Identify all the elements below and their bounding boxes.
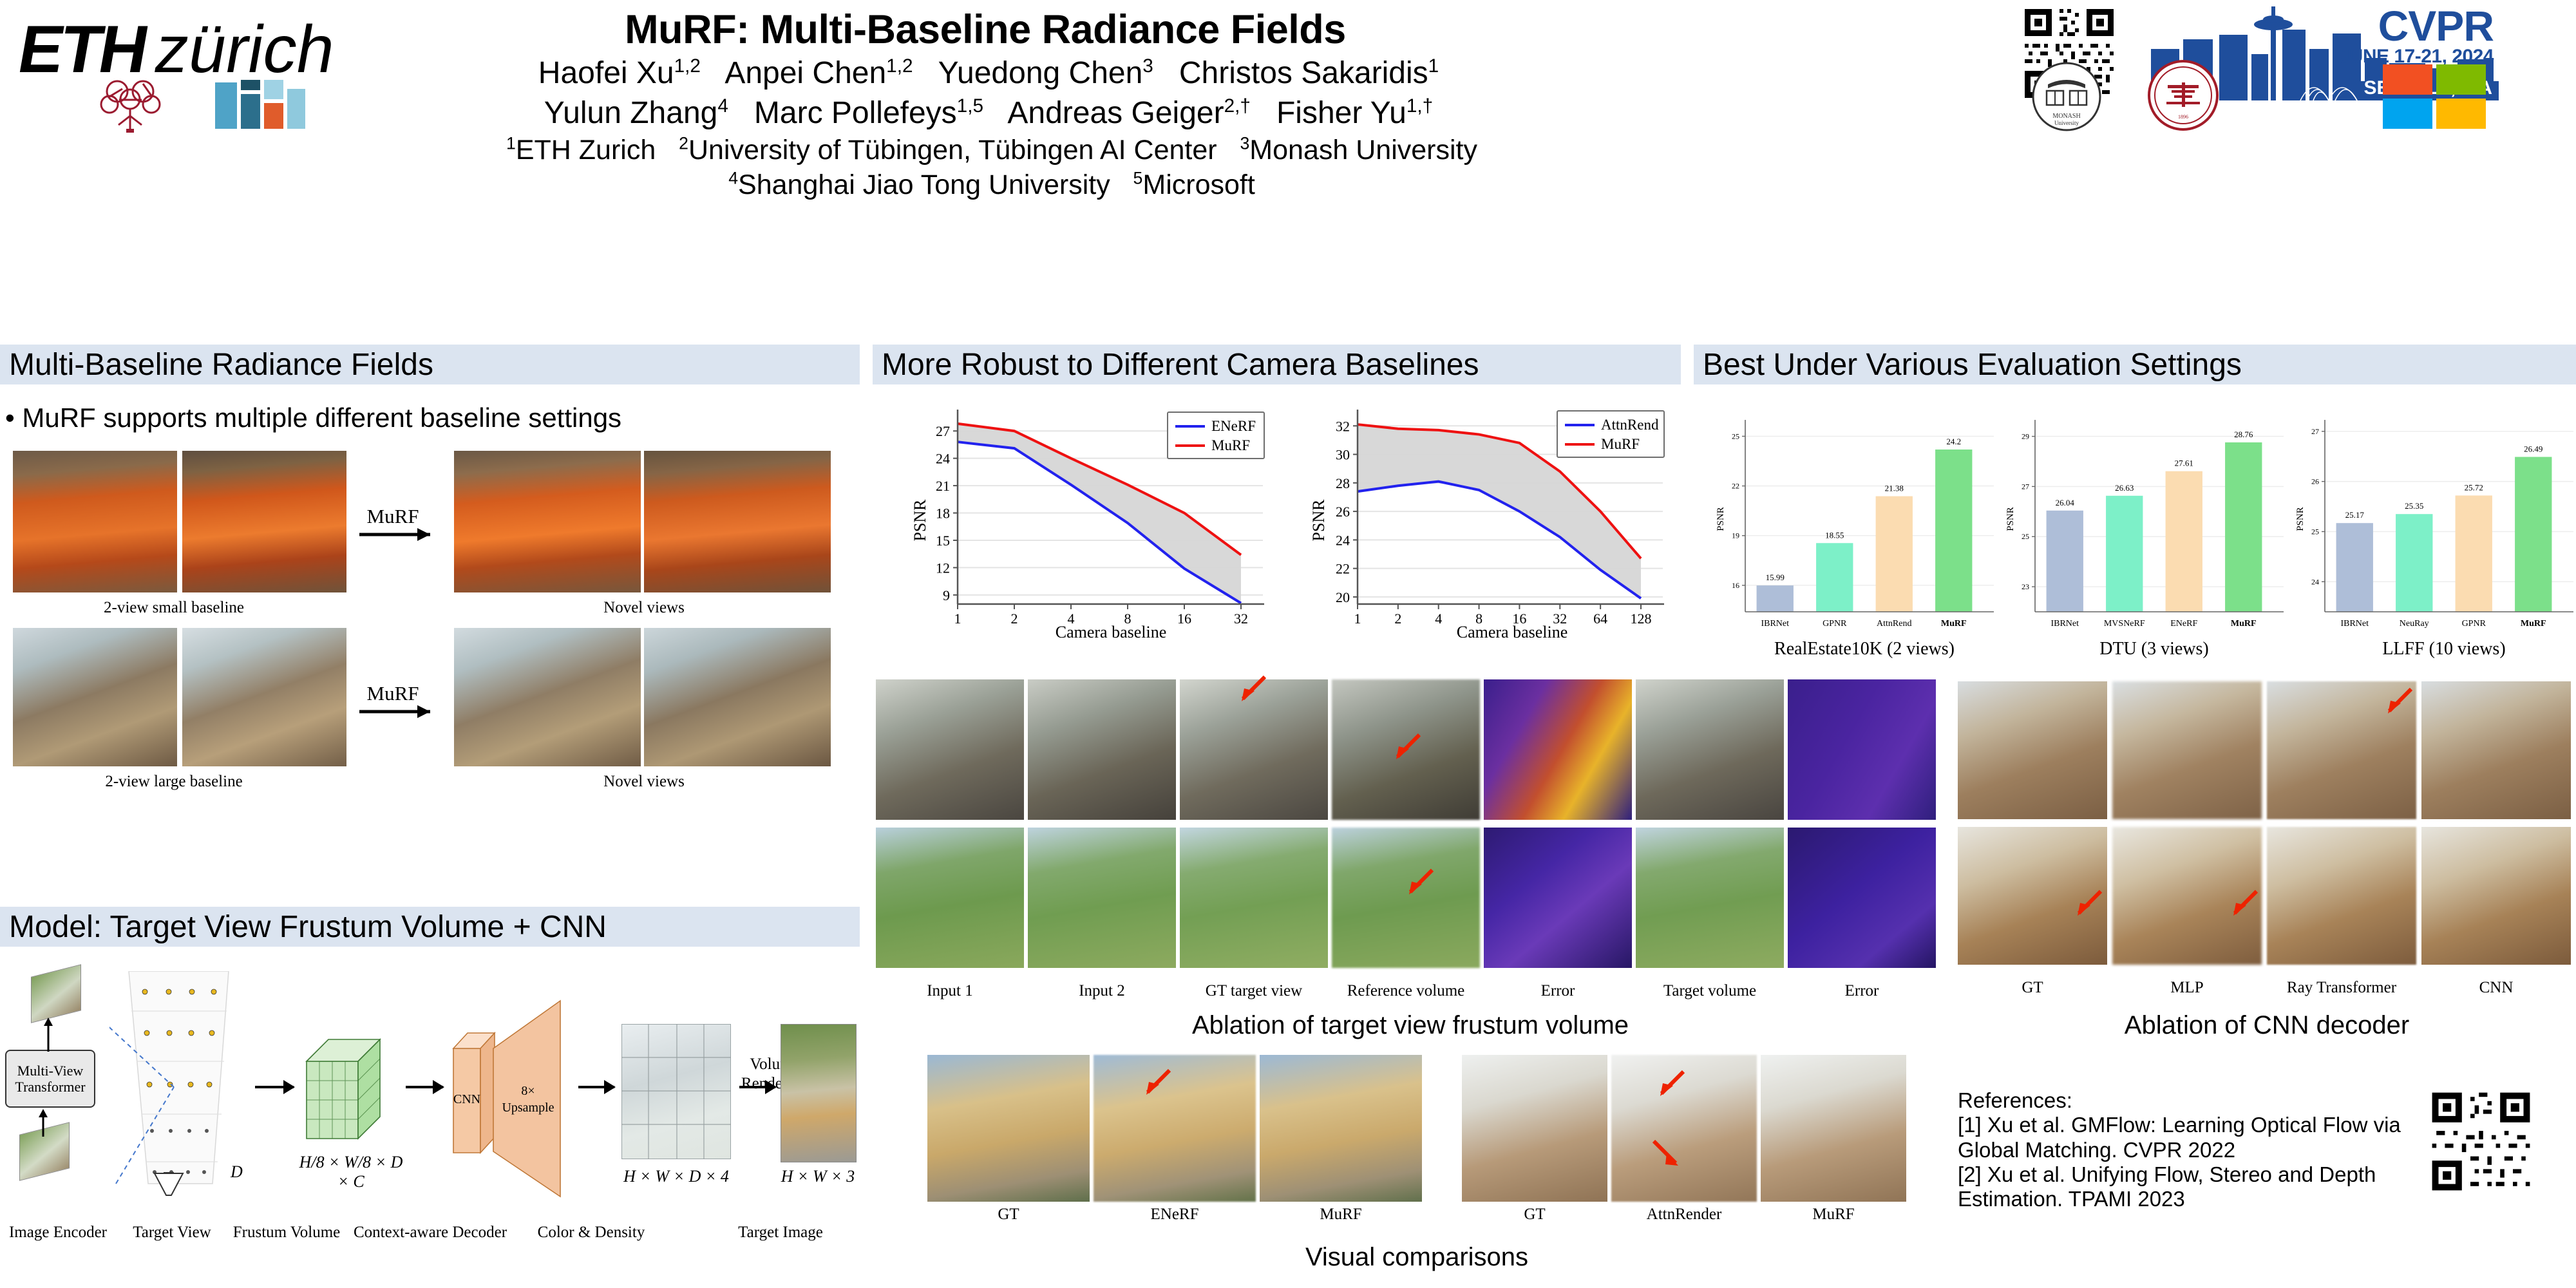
author-entry: Yuedong Chen3 xyxy=(938,56,1153,90)
ms-square-red xyxy=(2383,64,2432,95)
svg-text:64: 64 xyxy=(1593,611,1607,627)
novel-view-large-baseline-1 xyxy=(454,628,641,766)
section-header-robust-baselines: More Robust to Different Camera Baseline… xyxy=(873,345,1681,384)
svg-text:23: 23 xyxy=(2022,582,2029,591)
svg-text:AttnRend: AttnRend xyxy=(1877,619,1911,629)
reference-item: [2] Xu et al. Unifying Flow, Stereo and … xyxy=(1958,1162,2409,1212)
svg-text:MuRF: MuRF xyxy=(2231,619,2257,629)
cvpr-text-block: CVPR JUNE 17-21, 2024 xyxy=(2339,6,2494,68)
diagram-arrow-2 xyxy=(406,1086,443,1088)
svg-text:MVSNeRF: MVSNeRF xyxy=(2104,619,2145,629)
svg-text:25.17: 25.17 xyxy=(2345,510,2365,520)
diagram-frustum-volume-cube xyxy=(303,1036,393,1145)
cnn-ablation-gt-row1 xyxy=(1958,681,2107,819)
model-architecture-diagram: Multi-View Transformer D xyxy=(0,960,860,1211)
diagram-cnn-label: CNN xyxy=(453,1092,480,1106)
svg-text:24: 24 xyxy=(936,451,950,467)
ablation-cell-error-tgt-row2 xyxy=(1788,828,1936,968)
references-block: References: [1] Xu et al. GMFlow: Learni… xyxy=(1958,1088,2409,1211)
line-chart-1-legend-0: ENeRF xyxy=(1211,418,1256,434)
svg-text:26.04: 26.04 xyxy=(2056,498,2075,507)
ablation-frustum-row-1 xyxy=(876,679,1945,821)
annotation-arrow-red-row1-b xyxy=(1391,732,1423,764)
microsoft-logo-icon xyxy=(2383,64,2486,129)
svg-text:32: 32 xyxy=(1234,611,1248,627)
input-image-small-baseline-1 xyxy=(13,451,177,592)
diagram-caption-target-image: Target Image xyxy=(723,1224,838,1242)
svg-text:21: 21 xyxy=(936,478,950,494)
svg-text:24: 24 xyxy=(2311,577,2319,586)
svg-text:DTU (3 views): DTU (3 views) xyxy=(2099,639,2209,659)
ablation-label-input1: Input 1 xyxy=(885,982,1014,1000)
svg-text:22: 22 xyxy=(1336,561,1350,577)
svg-text:Upsample: Upsample xyxy=(502,1101,554,1115)
section-header-model: Model: Target View Frustum Volume + CNN xyxy=(0,907,860,947)
ablation-cell-error-ref-row2 xyxy=(1484,828,1632,968)
ablation-cell-error-ref-row1 xyxy=(1484,679,1632,820)
references-heading: References: xyxy=(1958,1088,2409,1113)
murf-arrow-large-baseline: MuRF xyxy=(353,667,450,737)
caption-ablation-frustum-volume: Ablation of target view frustum volume xyxy=(979,1011,1842,1040)
author-entry: Christos Sakaridis1 xyxy=(1179,56,1439,90)
ablation-cell-input2-row2 xyxy=(1028,828,1176,968)
ablation-label-gt-target-view: GT target view xyxy=(1189,982,1318,1000)
diagram-volume-gridlines xyxy=(621,1024,731,1159)
eth-zurich-logo: ETH zürich xyxy=(19,12,509,76)
svg-text:GPNR: GPNR xyxy=(2462,619,2486,629)
ablation-label-error-2: Error xyxy=(1797,982,1926,1000)
svg-text:26.63: 26.63 xyxy=(2115,483,2134,493)
svg-text:18: 18 xyxy=(936,506,950,522)
cnn-ablation-cnn-row1 xyxy=(2421,681,2571,819)
poster-header: ETH zürich MuRF: Multi-Baseline Radiance… xyxy=(0,0,2576,135)
diagram-arrow-up-1 xyxy=(39,1016,58,1052)
diagram-caption-target-view: Target View xyxy=(124,1224,220,1242)
ablation-label-input2: Input 2 xyxy=(1037,982,1166,1000)
caption-novel-views-2: Novel views xyxy=(515,773,773,791)
svg-text:IBRNet: IBRNet xyxy=(2340,619,2369,629)
svg-text:16: 16 xyxy=(1177,611,1191,627)
viscomp-label-g2-murf: MuRF xyxy=(1770,1206,1897,1224)
cnn-ablation-row-2 xyxy=(1958,827,2576,966)
line-chart-1-xlabel: Camera baseline xyxy=(1056,623,1167,641)
authors-line-2: Yulun Zhang4 Marc Pollefeys1,5 Andreas G… xyxy=(477,95,1501,131)
svg-text:32: 32 xyxy=(1336,418,1350,434)
ms-square-blue xyxy=(2383,99,2432,129)
camera-frustum-icon xyxy=(149,1172,188,1202)
diagram-formula-color-density: H × W × D × 4 xyxy=(618,1167,734,1186)
diagram-arrow-up-2 xyxy=(33,1108,53,1137)
svg-text:128: 128 xyxy=(1631,611,1652,627)
svg-text:15.99: 15.99 xyxy=(1766,573,1785,582)
diagram-frustum-sampling: D xyxy=(109,971,245,1197)
cnn-ablation-label-ray-transformer: Ray Transformer xyxy=(2277,979,2406,997)
line-chart-1-legend-1: MuRF xyxy=(1211,437,1250,453)
line-chart-2-ylabel: PSNR xyxy=(1309,499,1328,542)
cnn-ablation-cnn-row2 xyxy=(2421,827,2571,965)
annotation-arrow-red-g1 xyxy=(1141,1068,1173,1100)
svg-text:25: 25 xyxy=(2311,527,2319,536)
author-entry: Yulun Zhang4 xyxy=(544,96,728,130)
cnn-ablation-row-1 xyxy=(1958,681,2576,820)
bar-chart-llff: 2425262725.17IBRNet25.35NeuRay25.72GPNR2… xyxy=(2286,399,2576,663)
bullet-murf-supports: • MuRF supports multiple different basel… xyxy=(5,402,855,433)
viscomp-label-g1-gt: GT xyxy=(940,1206,1077,1224)
line-chart-2-legend-1: MuRF xyxy=(1601,436,1640,452)
svg-text:PSNR: PSNR xyxy=(2295,507,2306,531)
svg-text:NeuRay: NeuRay xyxy=(2400,619,2429,629)
svg-text:IBRNet: IBRNet xyxy=(2050,619,2079,629)
svg-text:27: 27 xyxy=(2311,427,2319,436)
diagram-block-upsample: 8× Upsample xyxy=(491,997,574,1203)
section-header-multi-baseline: Multi-Baseline Radiance Fields xyxy=(0,345,860,384)
line-chart-attnrend-vs-murf: 20222426283032 1248163264128 PSNR Camera… xyxy=(1288,392,1681,649)
novel-view-small-baseline-1 xyxy=(454,451,641,592)
caption-novel-views-1: Novel views xyxy=(515,599,773,617)
diagram-formula-target-image: H × W × 3 xyxy=(776,1167,860,1186)
viscomp-label-g2-gt: GT xyxy=(1472,1206,1598,1224)
svg-text:27.61: 27.61 xyxy=(2175,459,2193,468)
visual-comparison-group-2 xyxy=(1462,1055,1913,1203)
author-entry: Andreas Geiger2,† xyxy=(1007,96,1251,130)
svg-text:26: 26 xyxy=(1336,504,1350,520)
ablation-frustum-row-2 xyxy=(876,828,1945,969)
svg-text:12: 12 xyxy=(936,560,950,576)
author-entry: Anpei Chen1,2 xyxy=(724,56,913,90)
cnn-ablation-mlp-row1 xyxy=(2112,681,2262,819)
svg-text:MONASH: MONASH xyxy=(2052,113,2080,120)
input-image-large-baseline-2 xyxy=(182,628,346,766)
svg-text:MuRF: MuRF xyxy=(2521,619,2546,629)
ablation-cell-input1-row1 xyxy=(876,679,1024,820)
svg-text:ENeRF: ENeRF xyxy=(2170,619,2197,629)
caption-2view-large-baseline: 2-view large baseline xyxy=(39,773,309,791)
poster-root: ETH zürich MuRF: Multi-Baseline Radiance… xyxy=(0,0,2576,1288)
diagram-arrow-1 xyxy=(255,1086,294,1088)
svg-text:16: 16 xyxy=(1732,581,1739,590)
diagram-caption-color-density: Color & Density xyxy=(527,1224,656,1242)
svg-text:4: 4 xyxy=(1435,611,1442,627)
svg-text:MuRF: MuRF xyxy=(1941,619,1967,629)
viscomp-g2-gt xyxy=(1462,1055,1607,1202)
svg-text:25: 25 xyxy=(2022,532,2029,541)
annotation-arrow-red-g2-a xyxy=(1655,1069,1687,1101)
diagram-input-image-top xyxy=(31,964,81,1023)
annotation-arrow-red-cnn-row1 xyxy=(2383,687,2415,719)
line-chart-1-ylabel: PSNR xyxy=(911,499,929,542)
ablation-cell-targetvol-row1 xyxy=(1636,679,1784,820)
svg-text:PSNR: PSNR xyxy=(2005,507,2016,531)
caption-ablation-cnn-decoder: Ablation of CNN decoder xyxy=(1990,1011,2544,1040)
tuebingen-ai-center-logo-icon xyxy=(213,76,309,134)
svg-text:28: 28 xyxy=(1336,475,1350,491)
svg-text:PSNR: PSNR xyxy=(1716,507,1726,531)
bar-chart-dtu: 2325272926.04IBRNet26.63MVSNeRF27.61ENeR… xyxy=(1996,399,2286,663)
diagram-caption-image-encoder: Image Encoder xyxy=(0,1224,116,1242)
svg-text:University: University xyxy=(2054,120,2079,126)
ms-square-yellow xyxy=(2436,99,2486,129)
author-entry: Haofei Xu1,2 xyxy=(538,56,701,90)
authors-line-1: Haofei Xu1,2 Anpei Chen1,2 Yuedong Chen3… xyxy=(477,55,1501,91)
svg-text:8×: 8× xyxy=(521,1084,535,1098)
monash-university-logo-icon: MONASH University xyxy=(2029,61,2105,132)
svg-text:25.72: 25.72 xyxy=(2465,482,2483,492)
author-entry: Fisher Yu1,† xyxy=(1276,96,1433,130)
input-image-large-baseline-1 xyxy=(13,628,177,766)
svg-text:27: 27 xyxy=(2022,482,2029,491)
affiliations-line-2: 4Shanghai Jiao Tong University 5Microsof… xyxy=(464,169,1520,201)
svg-text:21.38: 21.38 xyxy=(1885,484,1904,493)
cnn-ablation-label-gt: GT xyxy=(1968,979,2097,997)
svg-text:LLFF (10 views): LLFF (10 views) xyxy=(2382,639,2505,659)
svg-text:24: 24 xyxy=(1336,532,1350,548)
svg-text:26.49: 26.49 xyxy=(2524,444,2543,453)
ablation-label-target-volume: Target volume xyxy=(1645,982,1774,1000)
reference-item: [1] Xu et al. GMFlow: Learning Optical F… xyxy=(1958,1113,2409,1162)
svg-text:1: 1 xyxy=(1354,611,1361,627)
ablation-cell-targetvol-row2 xyxy=(1636,828,1784,968)
diagram-block-multiview-transformer: Multi-View Transformer xyxy=(5,1050,95,1108)
line-chart-enerf-vs-murf: 9121518212427 12481632 PSNR Camera basel… xyxy=(885,392,1282,649)
affiliations-line-1: 1ETH Zurich 2University of Tübingen, Tüb… xyxy=(464,134,1520,166)
author-entry: Marc Pollefeys1,5 xyxy=(754,96,983,130)
annotation-arrow-red-row2 xyxy=(1404,867,1436,900)
annotation-arrow-red-row1-a xyxy=(1236,674,1269,706)
svg-text:22: 22 xyxy=(1732,482,1739,491)
ablation-cell-input1-row2 xyxy=(876,828,1024,968)
viscomp-g1-gt xyxy=(927,1055,1090,1202)
diagram-target-image xyxy=(781,1024,857,1162)
svg-text:25.35: 25.35 xyxy=(2405,501,2423,511)
diagram-caption-context-aware-decoder: Context-aware Decoder xyxy=(343,1224,517,1242)
viscomp-label-g2-attnrender: AttnRender xyxy=(1621,1206,1747,1224)
svg-text:27: 27 xyxy=(936,423,950,439)
page-title: MuRF: Multi-Baseline Radiance Fields xyxy=(502,6,1468,53)
diagram-block-cnn: CNN xyxy=(451,1029,496,1158)
svg-text:2: 2 xyxy=(1394,611,1401,627)
svg-text:24.2: 24.2 xyxy=(1946,437,1961,446)
svg-text:18.55: 18.55 xyxy=(1825,530,1844,540)
tuebingen-brain-logo-icon xyxy=(90,77,174,133)
diagram-formula-frustum: H/8 × W/8 × D × C xyxy=(296,1153,406,1191)
svg-text:28.76: 28.76 xyxy=(2234,430,2253,439)
input-image-small-baseline-2 xyxy=(182,451,346,592)
murf-arrow-small-baseline: MuRF xyxy=(353,489,450,560)
visual-comparison-group-1 xyxy=(927,1055,1430,1203)
caption-visual-comparisons: Visual comparisons xyxy=(1095,1243,1739,1272)
line-chart-2-legend-0: AttnRend xyxy=(1601,417,1659,433)
diagram-caption-frustum-volume: Frustum Volume xyxy=(225,1224,348,1242)
svg-text:2: 2 xyxy=(1011,611,1018,627)
svg-text:30: 30 xyxy=(1336,447,1350,463)
viscomp-g1-enerf xyxy=(1094,1055,1256,1202)
bar-chart-realestate10k: 1619222515.99IBRNet18.55GPNR21.38AttnRen… xyxy=(1707,399,1996,663)
svg-text:15: 15 xyxy=(936,533,950,549)
caption-2view-small-baseline: 2-view small baseline xyxy=(39,599,309,617)
cnn-ablation-raytransformer-row2 xyxy=(2267,827,2416,965)
svg-text:GPNR: GPNR xyxy=(1823,619,1847,629)
references-qr-code-icon[interactable] xyxy=(2428,1088,2534,1195)
ms-square-green xyxy=(2436,64,2486,95)
cnn-ablation-label-mlp: MLP xyxy=(2123,979,2251,997)
svg-text:20: 20 xyxy=(1336,589,1350,605)
svg-text:1: 1 xyxy=(954,611,961,627)
svg-text:29: 29 xyxy=(2022,432,2029,441)
annotation-arrow-red-g2-b xyxy=(1650,1139,1682,1171)
ablation-cell-input2-row1 xyxy=(1028,679,1176,820)
ablation-cell-error-tgt-row1 xyxy=(1788,679,1936,820)
diagram-label-D: D xyxy=(230,1162,243,1181)
svg-text:RealEstate10K (2 views): RealEstate10K (2 views) xyxy=(1774,639,1955,659)
viscomp-label-g1-enerf: ENeRF xyxy=(1106,1206,1243,1224)
annotation-arrow-red-cnn-row2-b xyxy=(2228,889,2260,921)
ablation-label-error-1: Error xyxy=(1493,982,1622,1000)
line-chart-2-xlabel: Camera baseline xyxy=(1457,623,1568,641)
sjtu-logo-icon: 1896 xyxy=(2145,59,2222,131)
svg-text:1896: 1896 xyxy=(2178,114,2188,120)
svg-text:25: 25 xyxy=(1732,431,1739,440)
arrow-label-murf: MuRF xyxy=(367,682,419,705)
svg-text:19: 19 xyxy=(1732,531,1739,540)
svg-text:26: 26 xyxy=(2311,477,2319,486)
section-header-best-evaluation: Best Under Various Evaluation Settings xyxy=(1694,345,2576,384)
viscomp-g1-murf xyxy=(1260,1055,1422,1202)
novel-view-large-baseline-2 xyxy=(644,628,831,766)
svg-text:9: 9 xyxy=(943,587,950,603)
arrow-label-murf: MuRF xyxy=(367,505,419,527)
ablation-cell-gt-row2 xyxy=(1180,828,1328,968)
viscomp-label-g1-murf: MuRF xyxy=(1273,1206,1409,1224)
svg-text:IBRNet: IBRNet xyxy=(1761,619,1789,629)
viscomp-g2-murf xyxy=(1761,1055,1906,1202)
cnn-ablation-label-cnn: CNN xyxy=(2432,979,2561,997)
annotation-arrow-red-cnn-row2-a xyxy=(2072,889,2105,921)
diagram-arrow-3 xyxy=(578,1086,614,1088)
ablation-label-reference-volume: Reference volume xyxy=(1341,982,1470,1000)
novel-view-small-baseline-2 xyxy=(644,451,831,592)
cvpr-title: CVPR xyxy=(2339,6,2494,46)
